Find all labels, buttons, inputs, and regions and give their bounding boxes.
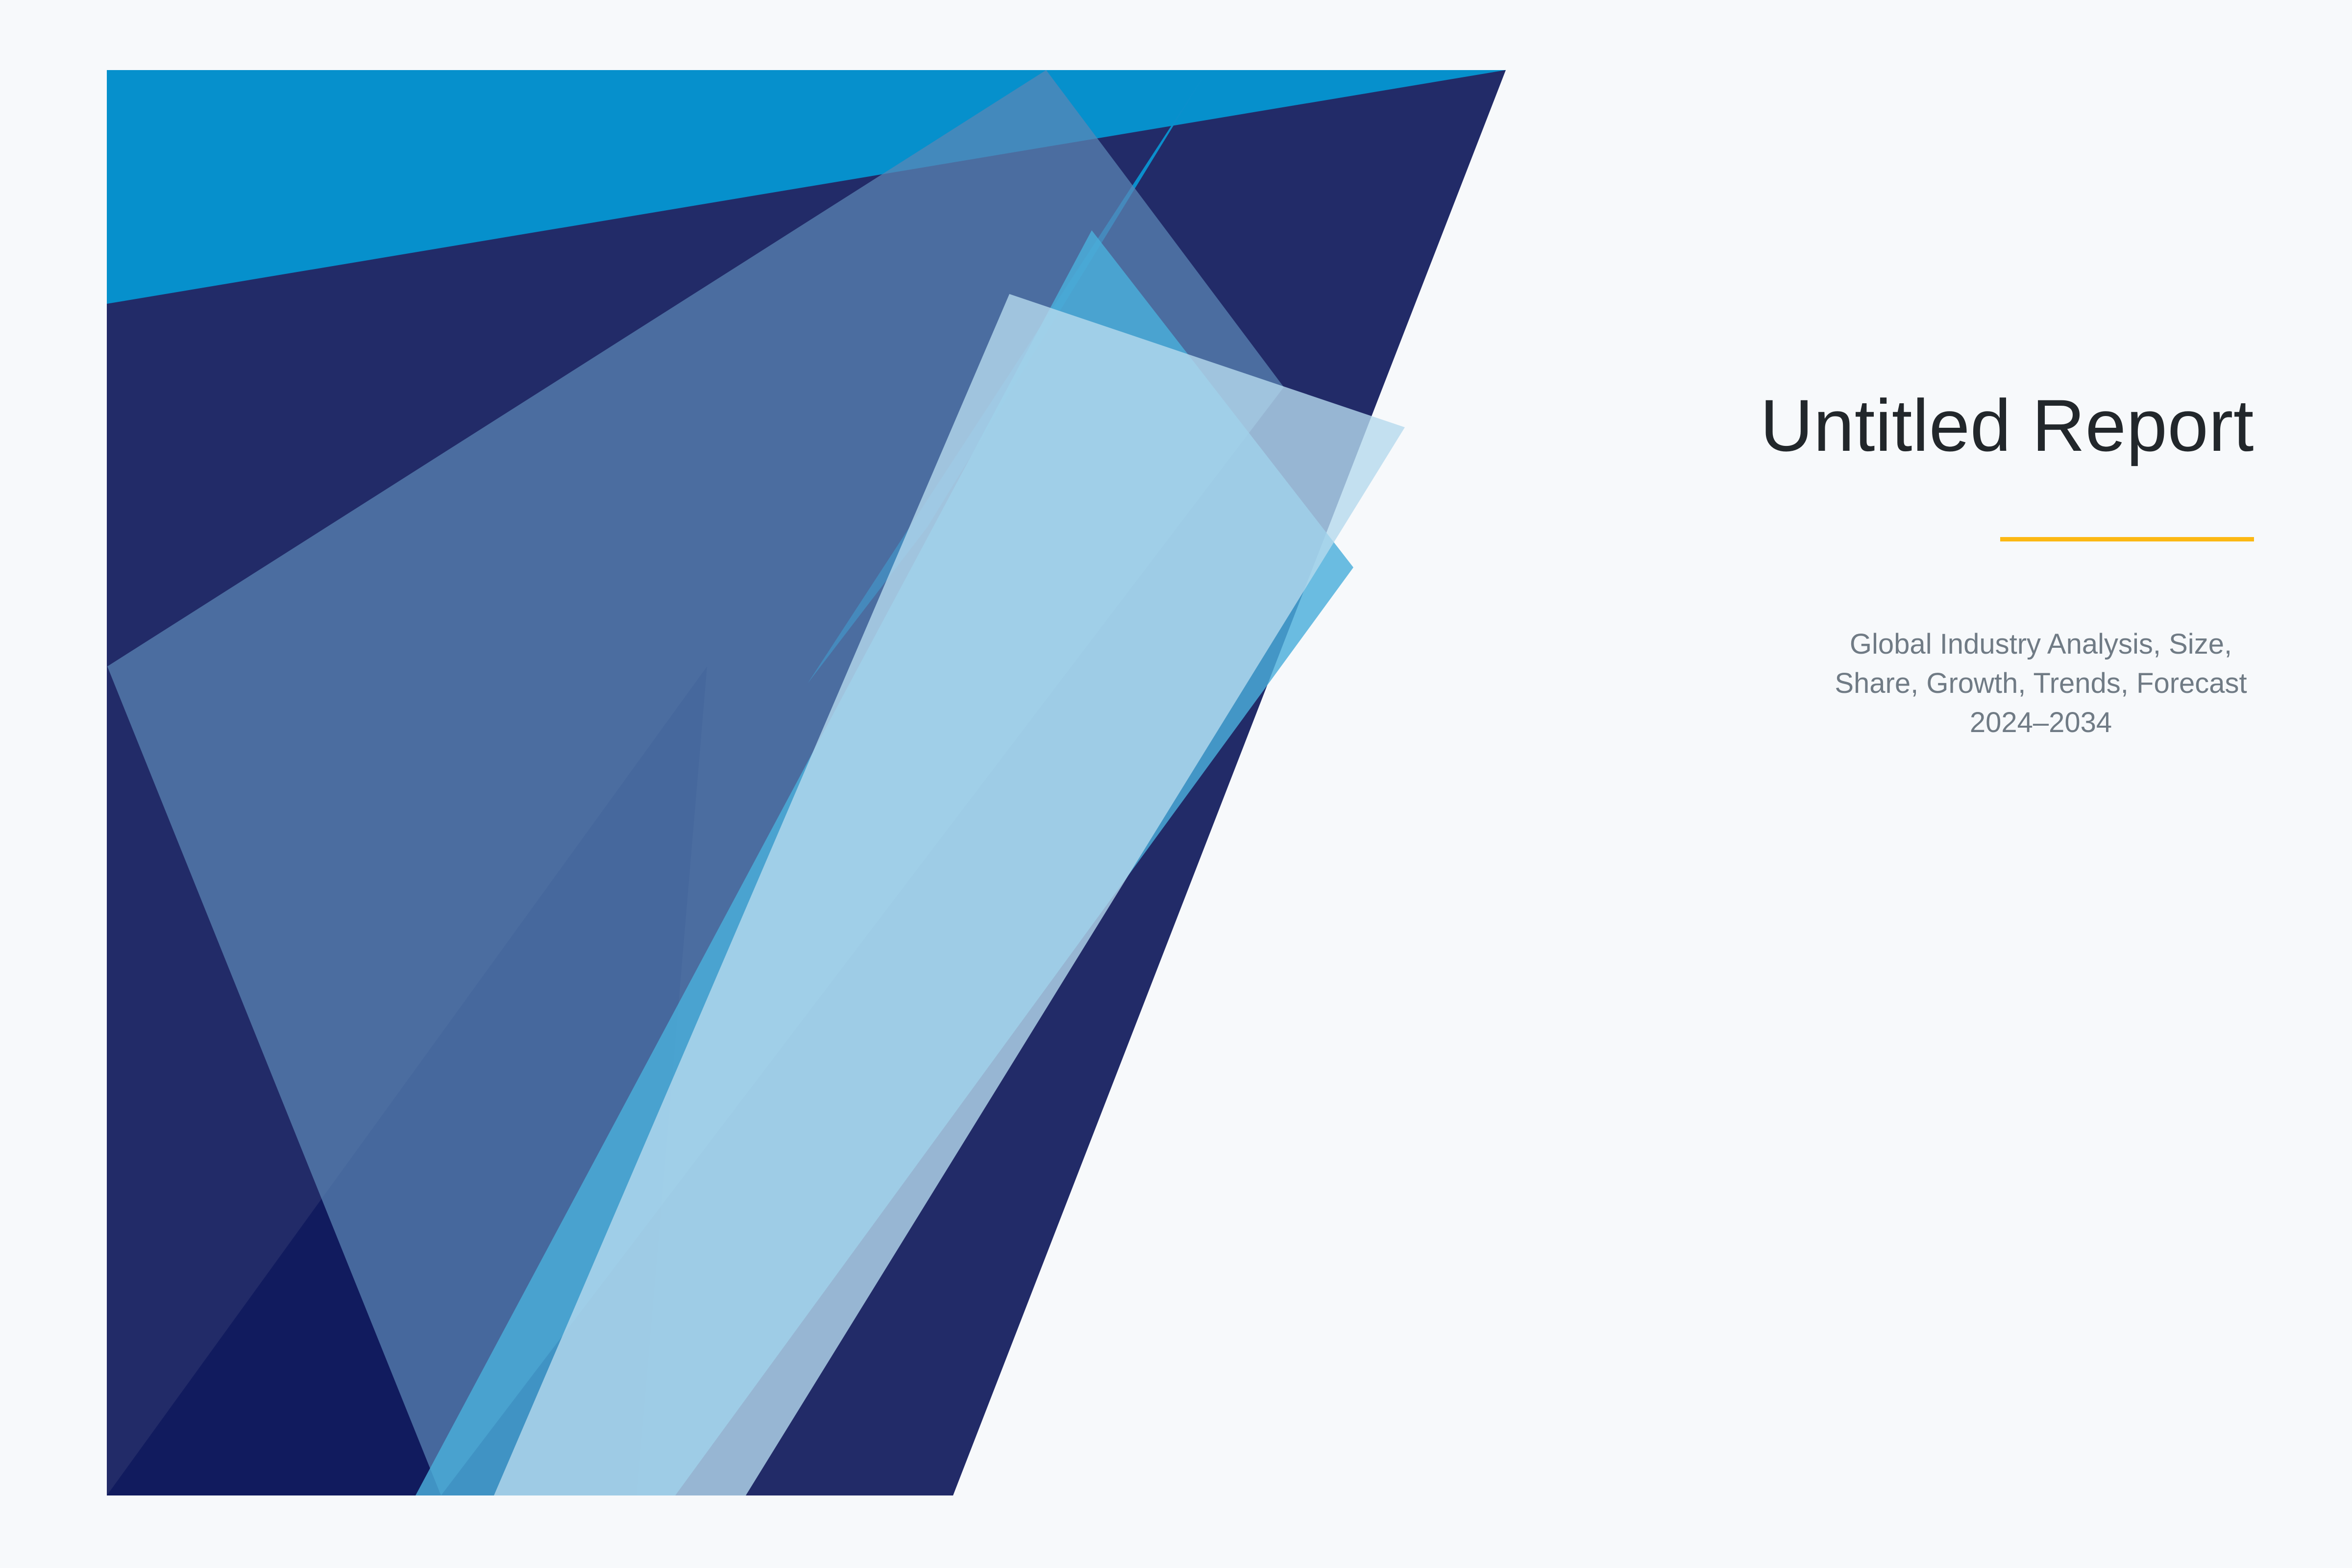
title-accent-rule [2000,537,2254,541]
report-subtitle: Global Industry Analysis, Size, Share, G… [1828,625,2254,742]
report-cover-page: Untitled Report Global Industry Analysis… [0,0,2352,1568]
cover-text-block: Untitled Report Global Industry Analysis… [1568,0,2352,1568]
cover-artwork [0,0,1568,1568]
page-title: Untitled Report [1568,387,2254,465]
